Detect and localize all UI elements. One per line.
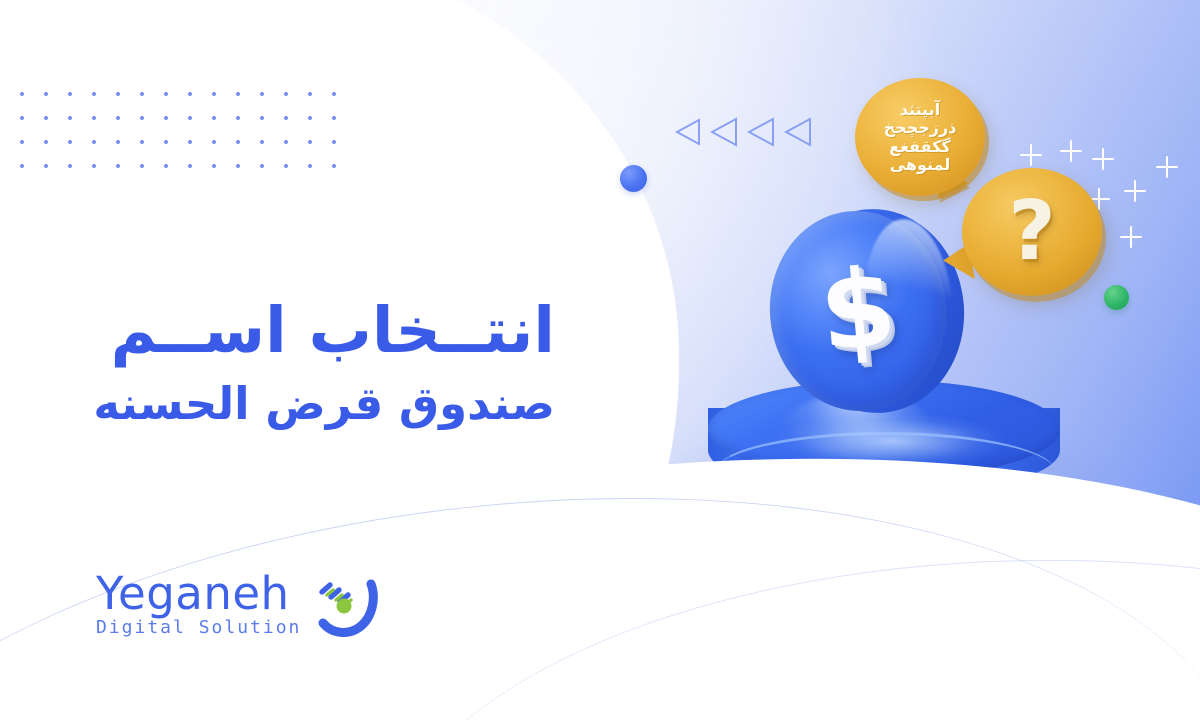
plus-mark-icon: [1020, 144, 1042, 166]
dollar-sign: $: [762, 204, 955, 419]
promo-banner: $ آبپتثد ذرزجچحخ گکقفغع لمنوهی ? انتــخا…: [0, 0, 1200, 720]
logo-name: Yeganeh: [96, 571, 301, 616]
plus-mark-icon: [1092, 148, 1114, 170]
triangle-arrow-icon: [673, 117, 701, 147]
alphabet-line: گکقفغع: [889, 138, 951, 155]
dot-grid-icon: [8, 80, 344, 176]
dollar-coin-icon: $: [770, 209, 960, 414]
alphabet-line: آبپتثد: [900, 101, 940, 118]
plus-mark-icon: [1120, 226, 1142, 248]
swirl-arc-logo-icon: [313, 568, 379, 640]
dollar-sign-glyph: $: [816, 254, 900, 368]
brand-logo[interactable]: Yeganeh Digital Solution: [96, 568, 379, 640]
triangle-arrow-icon: [747, 117, 775, 147]
alphabet-line: ذرزجچحخ: [884, 119, 957, 136]
question-mark: ?: [962, 168, 1102, 296]
triangle-arrow-icon: [710, 117, 738, 147]
plus-mark-icon: [1156, 156, 1178, 178]
plus-mark-icon: [1060, 140, 1082, 162]
alphabet-line: لمنوهی: [890, 156, 951, 173]
headline-block: انتــخاب اســم صندوق قرض الحسنه: [95, 298, 555, 430]
logo-tagline: Digital Solution: [96, 619, 301, 637]
plus-mark-icon: [1124, 180, 1146, 202]
question-speech-bubble: ?: [962, 168, 1102, 296]
question-mark-glyph: ?: [1008, 191, 1056, 273]
blue-circle-icon: [620, 165, 647, 192]
logo-text-block: Yeganeh Digital Solution: [96, 571, 301, 637]
headline-line-1: انتــخاب اســم: [95, 298, 555, 364]
triangle-arrow-group: [672, 108, 812, 156]
triangle-arrow-icon: [784, 117, 812, 147]
headline-line-2: صندوق قرض الحسنه: [95, 378, 555, 430]
